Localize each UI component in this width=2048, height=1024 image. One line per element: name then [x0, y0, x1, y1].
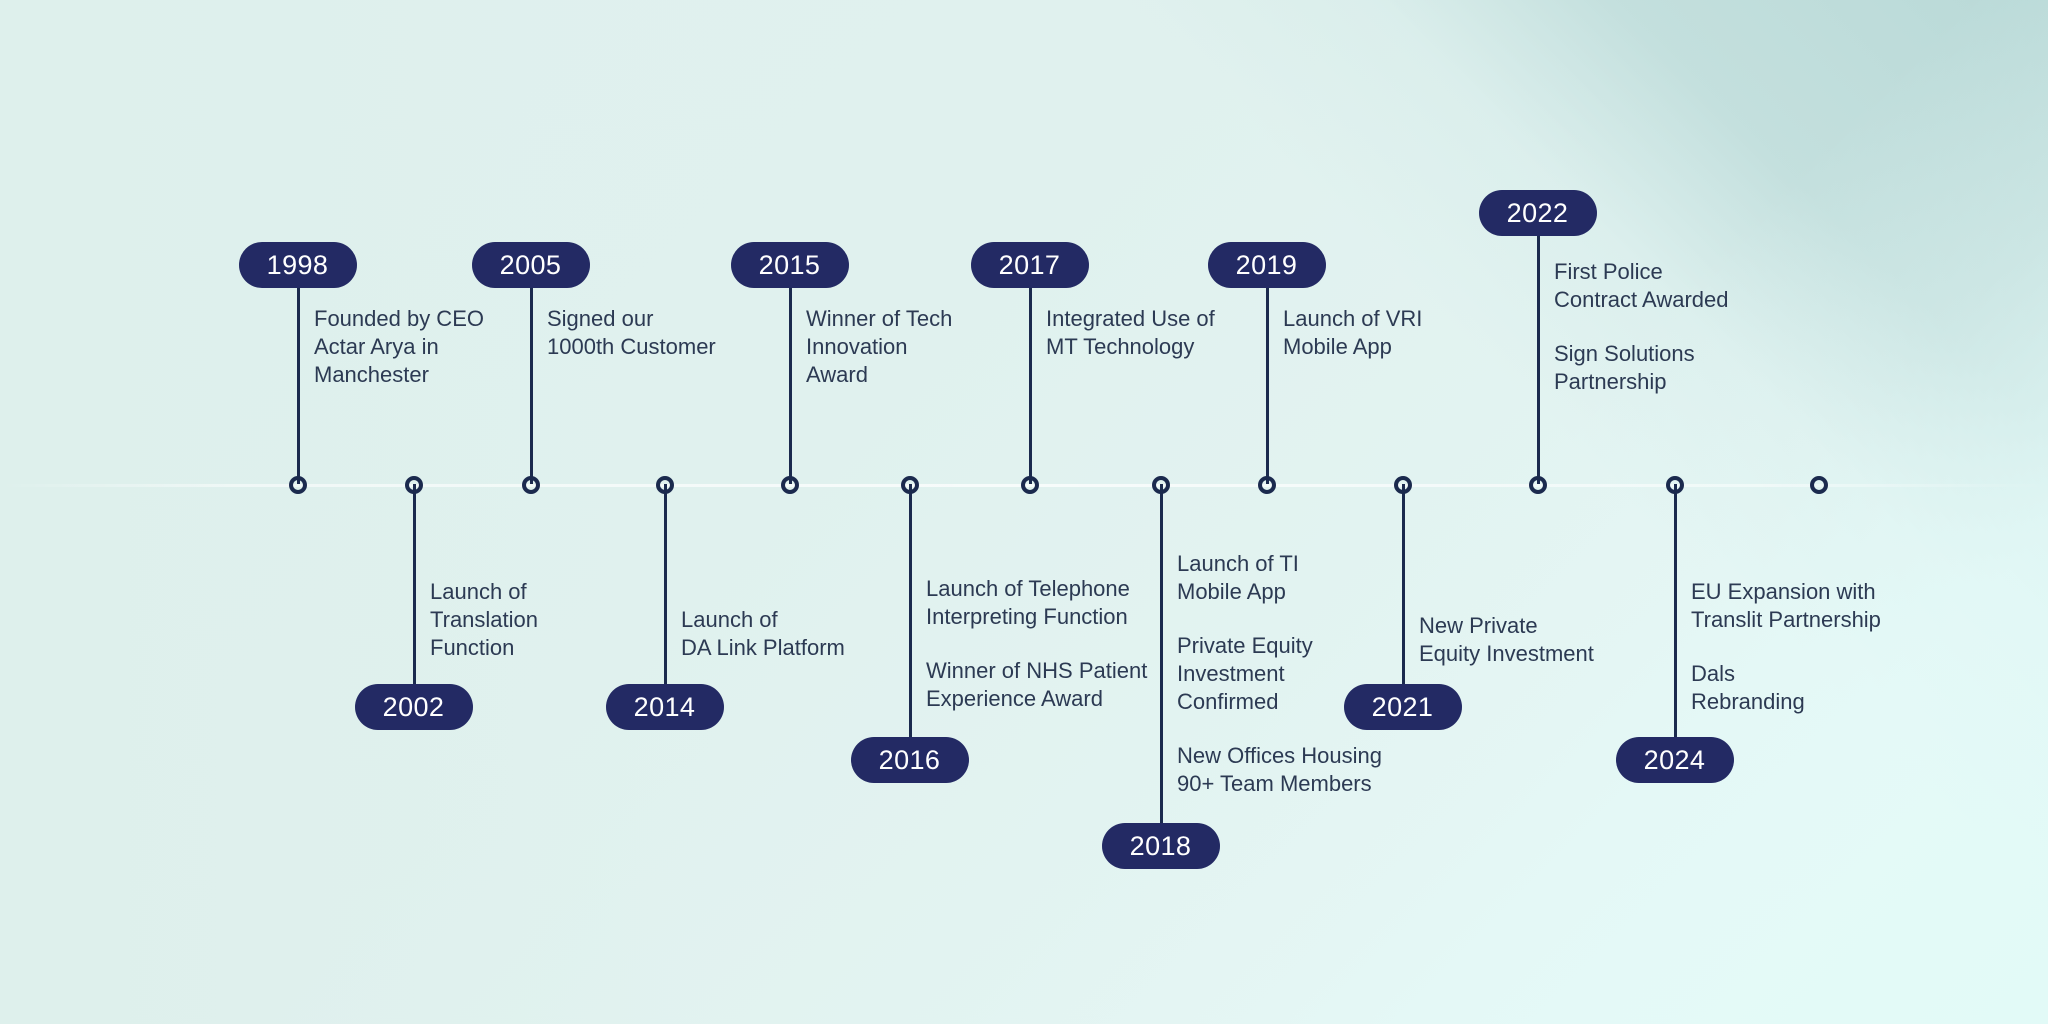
connector-stem [789, 265, 792, 484]
timeline-marker-dot[interactable] [1810, 476, 1828, 494]
year-pill-2005[interactable]: 2005 [472, 242, 590, 288]
connector-stem [1160, 484, 1163, 846]
timeline-marker-dot[interactable] [522, 476, 540, 494]
timeline-marker-dot[interactable] [1152, 476, 1170, 494]
timeline-canvas: 1998Founded by CEO Actar Arya in Manches… [0, 0, 2048, 1024]
event-description-group: First Police Contract AwardedSign Soluti… [1554, 258, 1884, 396]
event-description-group: Launch of TI Mobile AppPrivate Equity In… [1177, 550, 1577, 798]
year-pill-2016[interactable]: 2016 [851, 737, 969, 783]
year-pill-2021[interactable]: 2021 [1344, 684, 1462, 730]
timeline-marker-dot[interactable] [289, 476, 307, 494]
timeline-marker-dot[interactable] [656, 476, 674, 494]
connector-stem [909, 484, 912, 760]
year-pill-2022[interactable]: 2022 [1479, 190, 1597, 236]
year-pill-2002[interactable]: 2002 [355, 684, 473, 730]
background-diagonal-band-bottom [0, 0, 2048, 1024]
event-description: First Police Contract Awarded [1554, 258, 1884, 314]
timeline-marker-dot[interactable] [1394, 476, 1412, 494]
year-pill-2019[interactable]: 2019 [1208, 242, 1326, 288]
timeline-marker-dot[interactable] [901, 476, 919, 494]
event-description: New Offices Housing 90+ Team Members [1177, 742, 1577, 798]
timeline-marker-dot[interactable] [1666, 476, 1684, 494]
event-description-group: EU Expansion with Translit PartnershipDa… [1691, 578, 2048, 716]
timeline-marker-dot[interactable] [781, 476, 799, 494]
event-description: EU Expansion with Translit Partnership [1691, 578, 2048, 634]
connector-stem [1674, 484, 1677, 760]
connector-stem [664, 484, 667, 707]
year-pill-2014[interactable]: 2014 [606, 684, 724, 730]
connector-stem [413, 484, 416, 707]
year-pill-2018[interactable]: 2018 [1102, 823, 1220, 869]
event-description: Sign Solutions Partnership [1554, 340, 1884, 396]
background-diagonal-band-top [0, 0, 2048, 1024]
year-pill-2024[interactable]: 2024 [1616, 737, 1734, 783]
year-pill-1998[interactable]: 1998 [239, 242, 357, 288]
timeline-marker-dot[interactable] [405, 476, 423, 494]
timeline-marker-dot[interactable] [1021, 476, 1039, 494]
connector-stem [1266, 265, 1269, 484]
background-base [0, 0, 2048, 1024]
connector-stem [530, 265, 533, 484]
year-pill-2015[interactable]: 2015 [731, 242, 849, 288]
timeline-marker-dot[interactable] [1529, 476, 1547, 494]
background-left-wash [0, 0, 2048, 1024]
timeline-marker-dot[interactable] [1258, 476, 1276, 494]
connector-stem [1537, 213, 1540, 484]
connector-stem [297, 265, 300, 484]
connector-stem [1029, 265, 1032, 484]
event-description: Dals Rebranding [1691, 660, 2048, 716]
connector-stem [1402, 484, 1405, 707]
year-pill-2017[interactable]: 2017 [971, 242, 1089, 288]
event-description: Launch of TI Mobile App [1177, 550, 1577, 606]
